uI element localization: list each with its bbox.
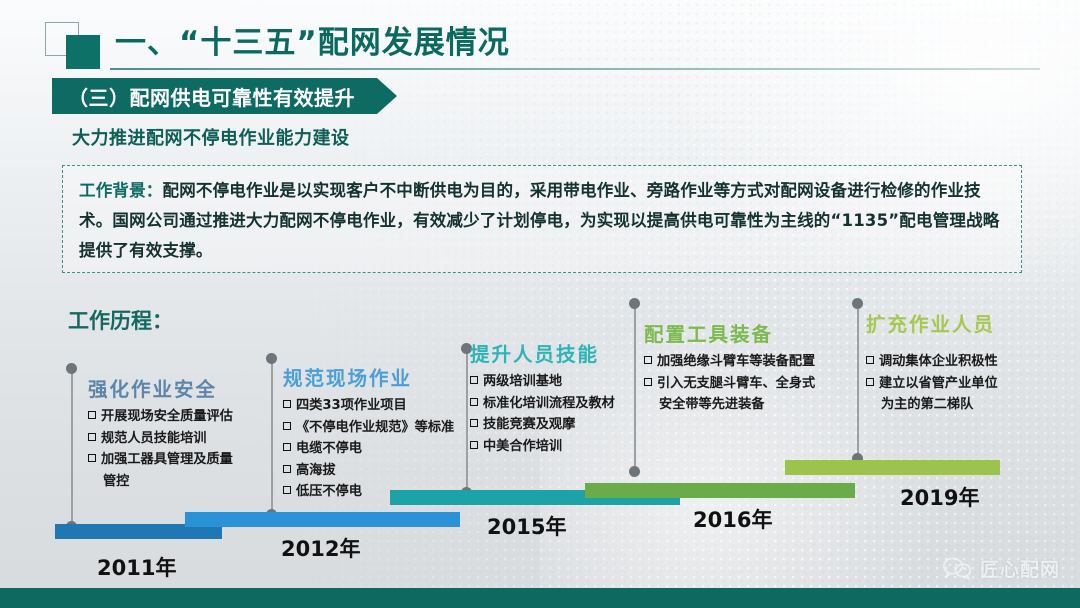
list-item: 标准化培训流程及教材 (470, 393, 670, 415)
checkbox-icon (470, 441, 478, 449)
list-item: 调动集体企业积极性 (866, 351, 1066, 373)
checkbox-icon (283, 400, 291, 408)
timeline-column-list-2015: 两级培训基地 标准化培训流程及教材 技能竞赛及观摩 中美合作培训 (470, 371, 670, 457)
list-item-continuation: 管控 (88, 471, 288, 493)
checkbox-icon (866, 356, 874, 364)
timeline: 强化作业安全 开展现场安全质量评估 规范人员技能培训 加强工器具管理及质量 管控… (0, 0, 1080, 608)
checkbox-icon (644, 378, 652, 386)
timeline-stem-2015 (466, 348, 468, 492)
timeline-column-title-2011: 强化作业安全 (88, 373, 288, 402)
list-item-label: 低压不停电 (296, 484, 362, 499)
list-item: 开展现场安全质量评估 (88, 406, 288, 428)
timeline-year-2019: 2019年 (900, 482, 979, 512)
timeline-column-2019: 扩充作业人员 调动集体企业积极性 建立以省管产业单位 为主的第二梯队 (866, 308, 1066, 416)
timeline-stem-2016 (634, 303, 636, 471)
timeline-column-2016: 配置工具装备 加强绝缘斗臂车等装备配置 引入无支腿斗臂车、全身式 安全带等先进装… (644, 318, 874, 416)
checkbox-icon (470, 419, 478, 427)
checkbox-icon (644, 356, 652, 364)
list-item-label: 标准化培训流程及教材 (483, 396, 615, 411)
list-item-label: 加强绝缘斗臂车等装备配置 (657, 354, 815, 369)
list-item: 加强绝缘斗臂车等装备配置 (644, 351, 874, 373)
timeline-stem-2019 (857, 303, 859, 458)
checkbox-icon (283, 443, 291, 451)
list-item-label: 安全带等先进装备 (659, 397, 765, 412)
timeline-column-list-2011: 开展现场安全质量评估 规范人员技能培训 加强工器具管理及质量 管控 (88, 406, 288, 492)
list-item: 两级培训基地 (470, 371, 670, 393)
list-item-label: 《不停电作业规范》等标准 (296, 420, 454, 435)
checkbox-icon (283, 486, 291, 494)
timeline-dot-top-2012 (266, 353, 277, 364)
checkbox-icon (88, 411, 96, 419)
timeline-column-2011: 强化作业安全 开展现场安全质量评估 规范人员技能培训 加强工器具管理及质量 管控 (88, 373, 288, 492)
list-item-continuation: 为主的第二梯队 (866, 394, 1066, 416)
timeline-bar-2012 (185, 512, 460, 527)
list-item: 引入无支腿斗臂车、全身式 (644, 373, 874, 395)
footer-band (0, 588, 1080, 608)
timeline-year-2011: 2011年 (97, 552, 176, 582)
list-item-label: 建立以省管产业单位 (879, 376, 998, 391)
timeline-dot-top-2016 (629, 298, 640, 309)
timeline-column-title-2016: 配置工具装备 (644, 318, 874, 347)
list-item-label: 加强工器具管理及质量 (101, 452, 233, 467)
slide-root: 一、“十三五”配网发展情况 （三）配网供电可靠性有效提升 大力推进配网不停电作业… (0, 0, 1080, 608)
checkbox-icon (470, 376, 478, 384)
timeline-stem-2011 (71, 368, 73, 532)
timeline-stem-2012 (271, 358, 273, 514)
list-item-continuation: 安全带等先进装备 (644, 394, 874, 416)
list-item-label: 调动集体企业积极性 (879, 354, 998, 369)
list-item-label: 中美合作培训 (483, 439, 562, 454)
checkbox-icon (88, 454, 96, 462)
timeline-bar-2019 (785, 460, 1000, 475)
list-item-label: 为主的第二梯队 (881, 397, 973, 412)
timeline-column-2015: 提升人员技能 两级培训基地 标准化培训流程及教材 技能竞赛及观摩 中美合作培训 (470, 338, 670, 457)
checkbox-icon (866, 378, 874, 386)
checkbox-icon (88, 433, 96, 441)
timeline-column-list-2016: 加强绝缘斗臂车等装备配置 引入无支腿斗臂车、全身式 安全带等先进装备 (644, 351, 874, 416)
list-item: 中美合作培训 (470, 436, 670, 458)
timeline-dot-top-2019 (852, 298, 863, 309)
list-item-label: 四类33项作业项目 (296, 398, 407, 413)
list-item-label: 技能竞赛及观摩 (483, 417, 575, 432)
timeline-year-2012: 2012年 (281, 533, 360, 563)
checkbox-icon (470, 398, 478, 406)
watermark: 匠心配网 (943, 555, 1060, 582)
list-item-label: 高海拔 (296, 463, 336, 478)
checkbox-icon (283, 422, 291, 430)
timeline-dot-top-2011 (66, 363, 77, 374)
timeline-bar-2016 (585, 483, 855, 498)
list-item-label: 开展现场安全质量评估 (101, 409, 233, 424)
timeline-dot-bottom-2016 (629, 466, 640, 477)
list-item: 规范人员技能培训 (88, 428, 288, 450)
list-item: 加强工器具管理及质量 (88, 449, 288, 471)
timeline-year-2015: 2015年 (487, 511, 566, 541)
list-item-label: 引入无支腿斗臂车、全身式 (657, 376, 815, 391)
checkbox-icon (283, 465, 291, 473)
list-item-label: 规范人员技能培训 (101, 431, 207, 446)
list-item-label: 电缆不停电 (296, 441, 362, 456)
list-item-label: 两级培训基地 (483, 374, 562, 389)
timeline-column-title-2015: 提升人员技能 (470, 338, 670, 367)
timeline-column-list-2019: 调动集体企业积极性 建立以省管产业单位 为主的第二梯队 (866, 351, 1066, 416)
list-item-label: 管控 (103, 474, 129, 489)
timeline-year-2016: 2016年 (693, 504, 772, 534)
list-item: 建立以省管产业单位 (866, 373, 1066, 395)
watermark-text: 匠心配网 (980, 555, 1060, 582)
list-item: 技能竞赛及观摩 (470, 414, 670, 436)
wechat-icon (943, 557, 973, 581)
timeline-column-title-2019: 扩充作业人员 (866, 308, 1066, 337)
